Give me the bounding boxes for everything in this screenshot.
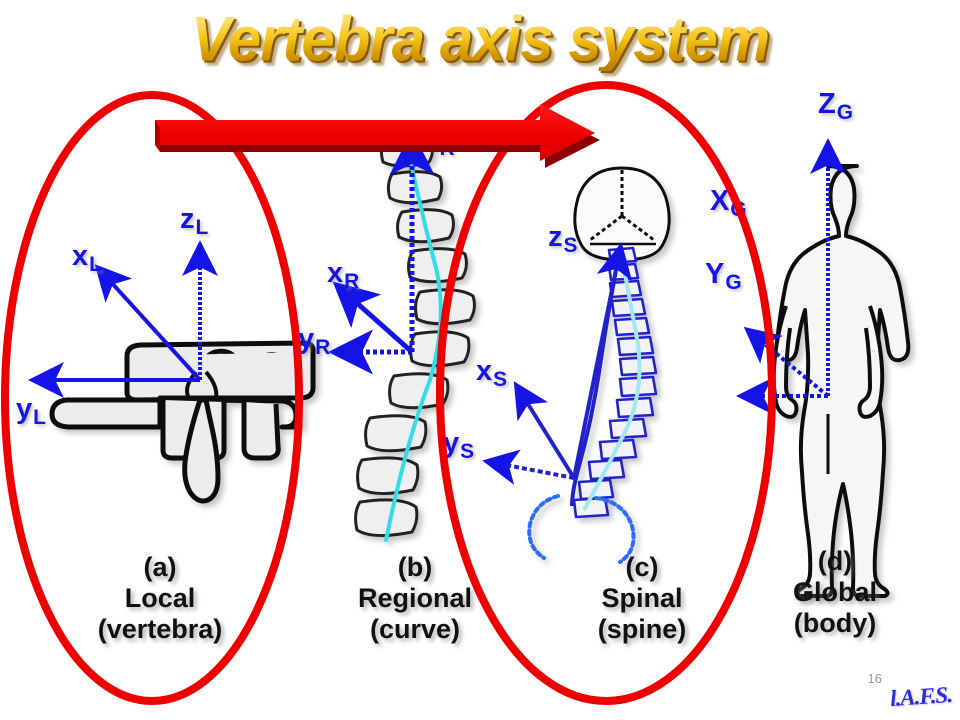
page-number: 16 xyxy=(868,671,882,686)
author-logo: l.A.F.S. xyxy=(889,682,953,712)
annotation-ellipse-local xyxy=(5,95,299,701)
annotation-layer xyxy=(0,0,960,720)
annotation-ellipse-spinal xyxy=(440,85,772,701)
slide-canvas: Vertebra axis system xyxy=(0,0,960,720)
